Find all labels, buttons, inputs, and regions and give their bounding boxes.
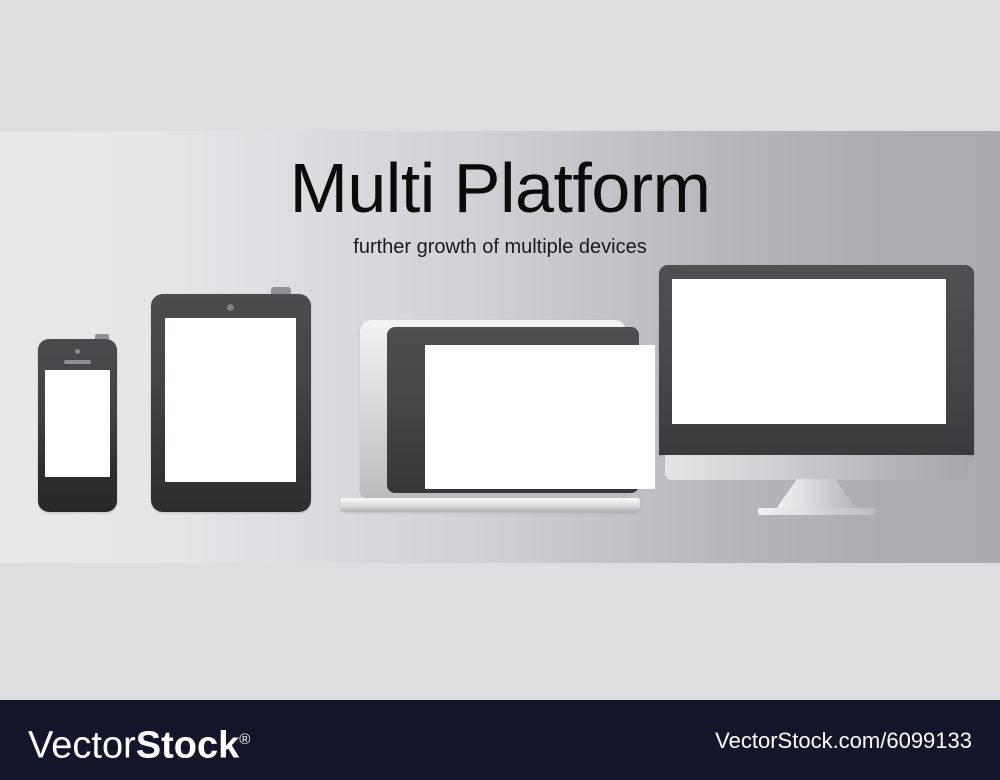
phone-camera-icon <box>75 349 80 354</box>
monitor-stand-neck <box>776 479 856 509</box>
tablet-camera-icon <box>227 304 234 311</box>
background-top <box>0 0 1000 131</box>
watermark-footer: VectorStock® VectorStock.com/6099133 <box>0 700 1000 780</box>
laptop-lid <box>360 320 626 500</box>
background-bottom <box>0 563 1000 700</box>
tablet-screen <box>165 318 296 482</box>
monitor-chin <box>665 455 968 480</box>
logo-text-vector: Vector <box>28 725 136 767</box>
monitor-screen <box>672 279 946 424</box>
tablet-body <box>151 294 311 512</box>
laptop-screen <box>425 345 655 489</box>
device-laptop <box>340 320 640 515</box>
logo-text-stock: Stock <box>136 725 239 767</box>
laptop-base <box>340 498 640 512</box>
registered-trademark-icon: ® <box>239 731 250 748</box>
device-tablet <box>151 294 311 512</box>
device-monitor <box>659 265 974 515</box>
watermark-url: VectorStock.com/6099133 <box>715 729 972 753</box>
monitor-bezel <box>659 265 974 455</box>
phone-speaker-icon <box>64 360 91 364</box>
device-smartphone <box>38 339 117 512</box>
monitor-stand-foot <box>758 508 875 515</box>
phone-body <box>38 339 117 512</box>
banner-artwork: Multi Platform further growth of multipl… <box>0 0 1000 780</box>
phone-screen <box>45 370 110 477</box>
vectorstock-logo: VectorStock® <box>28 721 250 765</box>
laptop-bezel <box>387 327 639 493</box>
